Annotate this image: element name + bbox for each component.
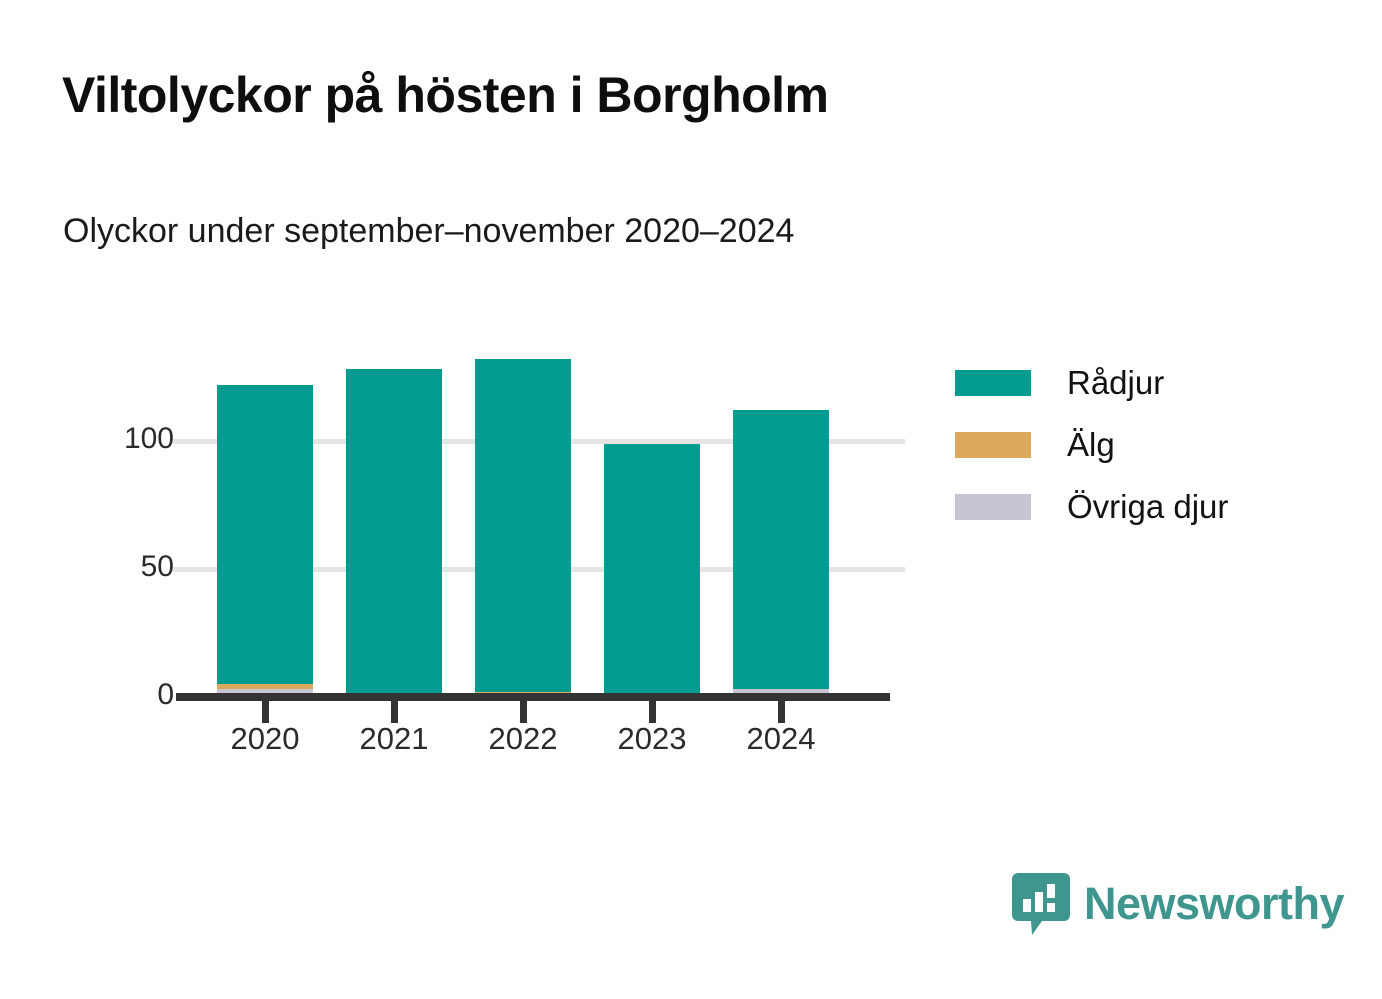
legend-item-älg[interactable]: Älg — [955, 414, 1228, 476]
legend-item-rådjur[interactable]: Rådjur — [955, 352, 1228, 414]
newsworthy-logo: Newsworthy — [1012, 873, 1344, 935]
chart-page: Viltolyckor på hösten i Borgholm Olyckor… — [0, 0, 1382, 999]
bar-2022[interactable] — [475, 359, 571, 697]
y-axis-tick-label: 50 — [104, 550, 174, 584]
x-axis-tick-label: 2021 — [324, 721, 464, 757]
legend-swatch-icon — [955, 370, 1031, 396]
legend-label: Rådjur — [1067, 364, 1164, 402]
bar-segment — [217, 385, 313, 685]
bar-2021[interactable] — [346, 369, 442, 697]
x-axis-tick-label: 2024 — [711, 721, 851, 757]
x-axis-tick-label: 2020 — [195, 721, 335, 757]
x-axis-tick-mark — [778, 701, 785, 723]
x-axis-tick-mark — [262, 701, 269, 723]
bar-2023[interactable] — [604, 444, 700, 697]
bar-segment — [733, 410, 829, 689]
legend-label: Älg — [1067, 426, 1115, 464]
bar-2024[interactable] — [733, 410, 829, 697]
bar-segment — [346, 369, 442, 697]
bar-segment — [475, 359, 571, 692]
x-axis-tick-label: 2022 — [453, 721, 593, 757]
bar-segment — [604, 444, 700, 697]
x-axis-line — [176, 693, 890, 701]
x-axis-tick-mark — [391, 701, 398, 723]
newsworthy-wordmark: Newsworthy — [1084, 878, 1344, 930]
legend-label: Övriga djur — [1067, 488, 1228, 526]
y-axis-tick-label: 0 — [104, 678, 174, 712]
chart-legend: RådjurÄlgÖvriga djur — [955, 352, 1228, 538]
legend-item-övriga-djur[interactable]: Övriga djur — [955, 476, 1228, 538]
bar-chart-speech-bubble-icon — [1012, 873, 1070, 935]
legend-swatch-icon — [955, 494, 1031, 520]
y-axis-tick-label: 100 — [104, 422, 174, 456]
x-axis-tick-mark — [520, 701, 527, 723]
x-axis-tick-mark — [649, 701, 656, 723]
legend-swatch-icon — [955, 432, 1031, 458]
x-axis-tick-label: 2023 — [582, 721, 722, 757]
bar-2020[interactable] — [217, 385, 313, 697]
